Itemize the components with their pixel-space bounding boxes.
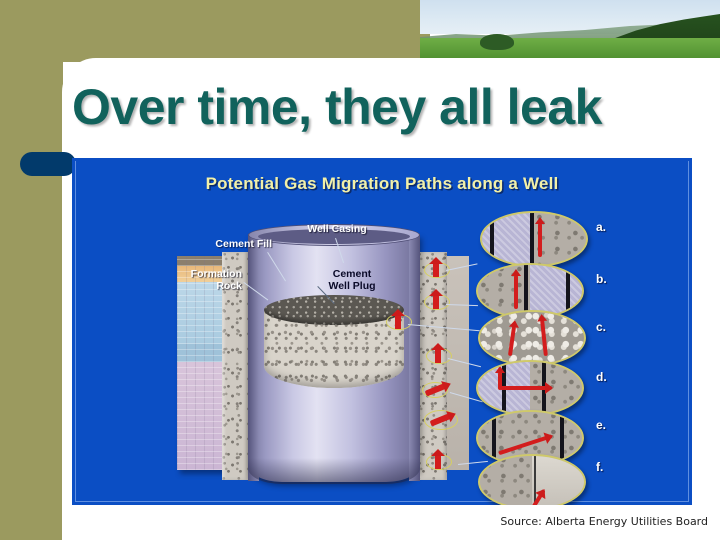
- gas-arrow-up-icon: [435, 454, 441, 469]
- gas-path-b: [514, 275, 518, 309]
- gas-path-d-riser: [498, 372, 502, 390]
- cement-well-plug-top: [264, 295, 404, 325]
- callout-rock-texture: [478, 265, 530, 317]
- navy-pill-decoration: [20, 152, 76, 176]
- callout-casing-wall: [530, 213, 534, 265]
- gas-arrow-up-icon: [435, 348, 441, 363]
- gas-path-a: [538, 223, 542, 257]
- source-note: Source: Alberta Energy Utilities Board: [500, 515, 708, 528]
- callout-c: [478, 310, 586, 366]
- gas-marker-e: [422, 382, 448, 398]
- callout-label-f: f.: [596, 460, 603, 474]
- diagram-title: Potential Gas Migration Paths along a We…: [72, 174, 692, 194]
- olive-left-band: [0, 0, 63, 540]
- label-cement-fill: Cement Fill: [182, 238, 272, 250]
- page-title: Over time, they all leak: [72, 76, 692, 138]
- callout-label-e: e.: [596, 418, 606, 432]
- gas-marker-d: [426, 348, 452, 364]
- olive-top-band: [0, 0, 430, 62]
- gas-marker-c: [386, 314, 412, 330]
- gas-arrow-up-icon: [395, 314, 401, 329]
- gas-marker-b: [424, 294, 450, 310]
- callout-label-b: b.: [596, 272, 607, 286]
- label-formation-rock: Formation Rock: [170, 268, 242, 292]
- landscape-photo: [420, 0, 720, 60]
- callout-casing-wall: [490, 213, 494, 265]
- gas-migration-diagram: Potential Gas Migration Paths along a We…: [72, 158, 692, 505]
- gas-marker-f: [424, 410, 458, 430]
- slide: Over time, they all leak Potential Gas M…: [0, 0, 720, 540]
- casing-wall-left: [248, 235, 259, 481]
- casing-bottom-shading: [248, 458, 420, 484]
- gas-arrow-up-icon: [433, 294, 439, 309]
- photo-bush: [480, 34, 514, 50]
- gas-marker-g: [426, 454, 452, 470]
- callout-rock-texture: [480, 456, 532, 505]
- callout-a: [480, 211, 588, 267]
- callout-d: [476, 360, 584, 416]
- photo-field: [420, 38, 720, 60]
- callout-label-a: a.: [596, 220, 606, 234]
- callout-label-c: c.: [596, 320, 606, 334]
- callout-label-d: d.: [596, 370, 607, 384]
- callout-casing-wall: [566, 265, 570, 317]
- cement-fill-right: [417, 252, 447, 480]
- casing-wall-right: [409, 235, 420, 481]
- gas-path-d: [500, 386, 552, 390]
- gas-arrow-up-icon: [433, 262, 439, 277]
- callout-f: [478, 454, 586, 505]
- label-well-casing: Well Casing: [277, 223, 397, 235]
- callout-gravel-texture: [480, 312, 532, 364]
